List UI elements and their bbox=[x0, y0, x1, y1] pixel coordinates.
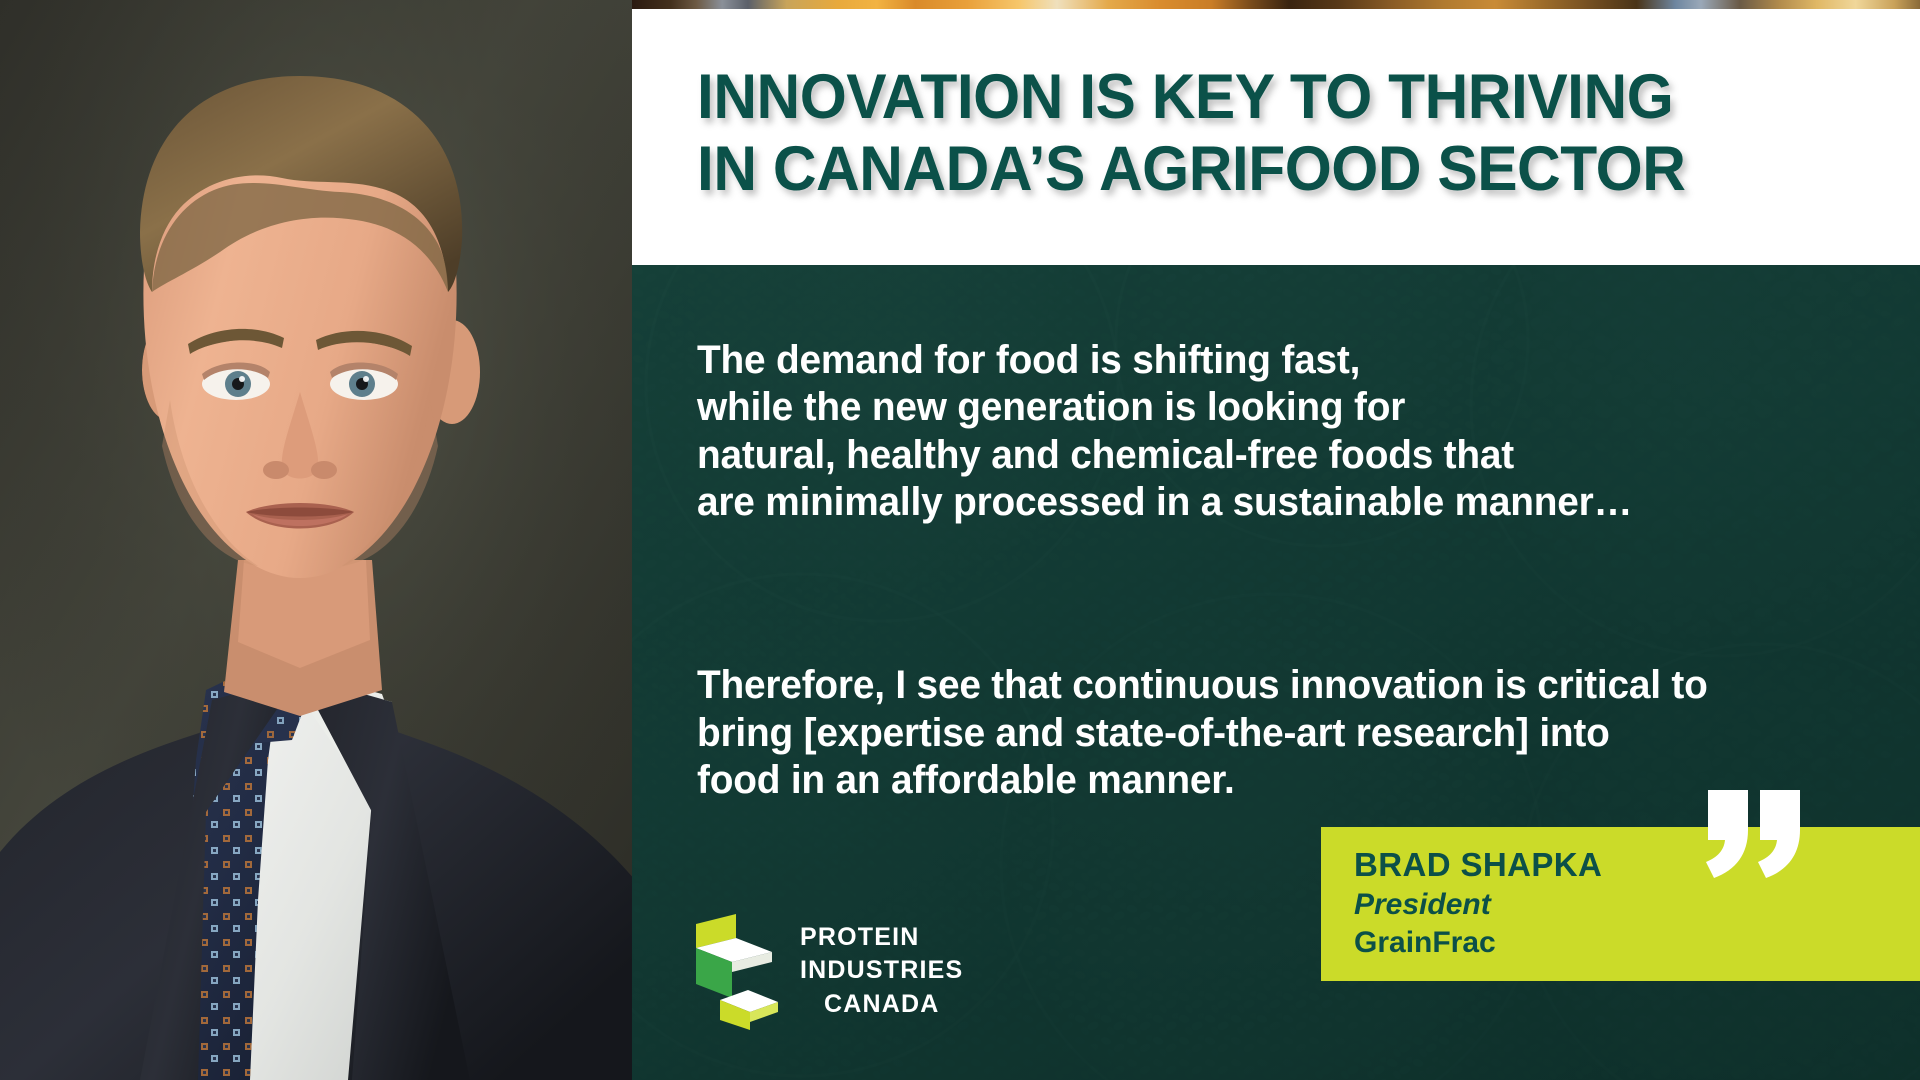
top-color-strip bbox=[632, 0, 1920, 9]
protein-industries-canada-mark-icon bbox=[692, 912, 778, 1030]
speaker-organization: GrainFrac bbox=[1354, 924, 1602, 962]
portrait-photo bbox=[0, 0, 632, 1080]
logo-line-industries: INDUSTRIES bbox=[800, 954, 963, 987]
speaker-name: BRAD SHAPKA bbox=[1354, 845, 1602, 886]
attribution-text: BRAD SHAPKA President GrainFrac bbox=[1354, 845, 1602, 962]
page-title: INNOVATION IS KEY TO THRIVING IN CANADA’… bbox=[697, 61, 1830, 206]
quote-paragraph-1: The demand for food is shifting fast, wh… bbox=[697, 337, 1822, 526]
logo-line-canada: CANADA bbox=[800, 988, 963, 1021]
speaker-role: President bbox=[1354, 886, 1602, 924]
attribution-box: BRAD SHAPKA President GrainFrac bbox=[1321, 827, 1920, 981]
logo-line-protein: PROTEIN bbox=[800, 921, 963, 954]
protein-industries-canada-logo: PROTEIN INDUSTRIES CANADA bbox=[692, 912, 963, 1030]
headline-panel: INNOVATION IS KEY TO THRIVING IN CANADA’… bbox=[632, 9, 1920, 265]
quote-spacer bbox=[697, 573, 1822, 615]
quote-paragraph-2: Therefore, I see that continuous innovat… bbox=[697, 662, 1822, 804]
portrait-illustration bbox=[0, 0, 632, 1080]
logo-wordmark: PROTEIN INDUSTRIES CANADA bbox=[800, 921, 963, 1021]
quote-card: INNOVATION IS KEY TO THRIVING IN CANADA’… bbox=[0, 0, 1920, 1080]
quote-body: The demand for food is shifting fast, wh… bbox=[697, 290, 1822, 851]
